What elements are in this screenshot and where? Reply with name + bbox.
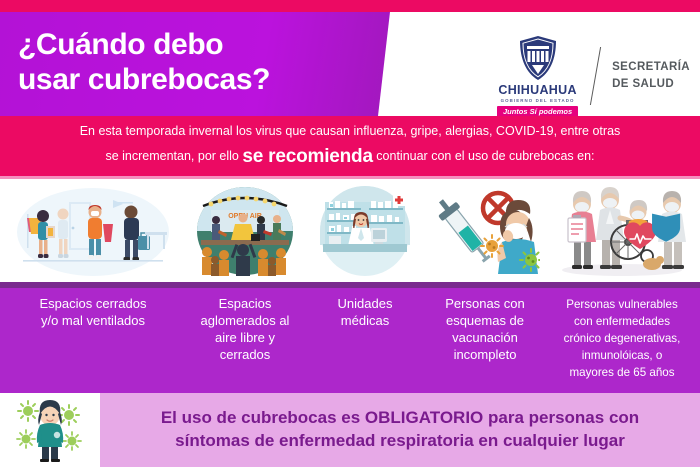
intro-emphasis: se recomienda — [242, 146, 372, 167]
chihuahua-sub-wordmark: GOBIERNO DEL ESTADO — [501, 98, 575, 103]
caption-item-3: Unidadesmédicas — [304, 288, 426, 330]
tagline-si-podemos: Sí podemos — [530, 107, 573, 116]
crowded-indoor-store-icon — [0, 183, 186, 279]
caption-item-4: Personas conesquemas devacunaciónincompl… — [426, 288, 544, 364]
secretaria-line-1: SECRETARÍA — [612, 59, 690, 76]
caption-item-1: Espacios cerradosy/o mal ventilados — [0, 288, 186, 330]
header-band: ¿Cuándo debo usar cubrebocas? — [0, 12, 700, 116]
footer-message-line-1: El uso de cubrebocas es OBLIGATORIO para… — [161, 407, 639, 430]
page-title: ¿Cuándo debo usar cubrebocas? — [18, 28, 378, 98]
caption-row: Espacios cerradosy/o mal ventilados Espa… — [0, 288, 700, 380]
intro-line-1: En esta temporada invernal los virus que… — [80, 122, 621, 141]
secretaria-line-2: DE SALUD — [612, 76, 690, 93]
pharmacy-medical-unit-icon — [304, 183, 426, 279]
government-logo-lockup: CHIHUAHUA GOBIERNO DEL ESTADO Juntos Sí … — [484, 34, 690, 116]
chihuahua-logo: CHIHUAHUA GOBIERNO DEL ESTADO Juntos Sí … — [484, 35, 591, 117]
footer-band: El uso de cubrebocas es OBLIGATORIO para… — [0, 393, 700, 467]
footer-icon-box — [0, 393, 100, 467]
caption-item-2-text: Espaciosaglomerados alaire libre ycerrad… — [201, 296, 290, 362]
page-title-line-1: ¿Cuándo debo — [18, 28, 223, 61]
caption-item-1-text: Espacios cerradosy/o mal ventilados — [40, 296, 147, 328]
vulnerable-elderly-people-icon — [544, 183, 700, 279]
chihuahua-shield-icon — [518, 35, 558, 81]
caption-item-5-text: Personas vulnerablescon enfermedadescrón… — [564, 298, 681, 379]
intro-line-2-post: continuar con el uso de cubrebocas en: — [373, 149, 595, 163]
chihuahua-wordmark: CHIHUAHUA — [498, 83, 576, 97]
caption-item-4-text: Personas conesquemas devacunaciónincompl… — [445, 296, 525, 362]
chihuahua-tagline: Juntos Sí podemos — [497, 106, 578, 117]
intro-band: En esta temporada invernal los virus que… — [0, 116, 700, 178]
caption-item-5: Personas vulnerablescon enfermedadescrón… — [544, 288, 700, 380]
incomplete-vaccination-icon — [426, 183, 544, 279]
caption-band: Espacios cerradosy/o mal ventilados Espa… — [0, 288, 700, 393]
page-title-line-2: usar cubrebocas? — [18, 63, 378, 98]
footer-message-line-2: síntomas de enfermedad respiratoria en c… — [175, 430, 625, 453]
top-accent-strip — [0, 0, 700, 12]
caption-item-2: Espaciosaglomerados alaire libre ycerrad… — [186, 288, 304, 364]
caption-item-3-text: Unidadesmédicas — [338, 296, 393, 328]
intro-line-2-pre: se incrementan, por ello — [105, 149, 242, 163]
logo-divider — [590, 47, 601, 105]
illustration-row: OPEN AIR — [0, 179, 700, 282]
footer-message: El uso de cubrebocas es OBLIGATORIO para… — [100, 393, 700, 467]
open-air-concert-icon: OPEN AIR — [186, 183, 304, 279]
infographic-poster: ¿Cuándo debo usar cubrebocas? — [0, 0, 700, 467]
tagline-juntos: Juntos — [503, 107, 528, 116]
intro-line-2: se incrementan, por ello se recomienda c… — [105, 143, 594, 172]
sick-person-with-virus-icon — [14, 397, 86, 463]
secretaria-de-salud-label: SECRETARÍA DE SALUD — [612, 59, 690, 92]
